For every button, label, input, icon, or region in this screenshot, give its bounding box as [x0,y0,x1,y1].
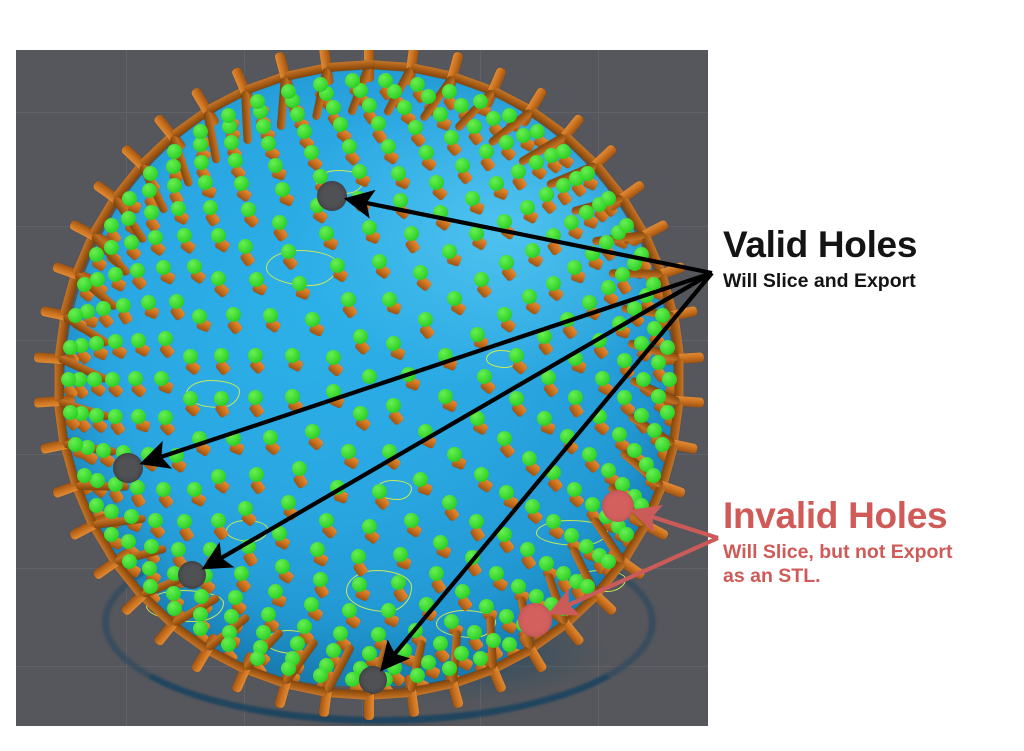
support-point [234,176,249,191]
support-point [330,258,345,273]
support-point [634,336,649,351]
support-point [194,155,209,170]
support-point [499,609,514,624]
support-point [171,542,186,557]
support-point [89,247,104,262]
support-point [142,561,157,576]
support-point [433,535,448,550]
support-point [546,514,561,529]
support-point [595,371,610,386]
support-point [529,155,544,170]
support-point [655,437,670,452]
support-point [144,539,159,554]
support-point [646,277,661,292]
support-point [143,579,158,594]
support-point [90,272,105,287]
support-point [473,94,488,109]
support-point [660,405,675,420]
support-point [263,308,278,323]
valid-holes-annotation: Valid Holes Will Slice and Export [723,226,917,293]
support-point [154,371,169,386]
support-point [166,586,181,601]
support-point [268,158,283,173]
valid-holes-subtitle: Will Slice and Export [723,270,917,293]
support-point [522,451,537,466]
support-point [224,135,239,150]
support-point [263,430,278,445]
support-point [479,144,494,159]
support-point [404,513,419,528]
support-point [183,391,198,406]
support-point [455,158,470,173]
support-point [525,243,540,258]
support-point [378,73,393,88]
support-point [546,228,561,243]
screenshot-root: Valid Holes Will Slice and Export Invali… [0,0,1024,751]
support-point [310,542,325,557]
support-point [529,589,544,604]
support-point [285,348,300,363]
support-point [469,514,484,529]
support-point [248,348,263,363]
support-point [511,164,526,179]
support-point [104,240,119,255]
support-point [167,144,182,159]
support-point [567,482,582,497]
support-point [193,621,208,636]
invalid-holes-subtitle-line1: Will Slice, but not Export [723,541,953,564]
support-point [525,499,540,514]
valid-hole-marker [113,453,143,483]
support-point [592,333,607,348]
invalid-holes-title: Invalid Holes [723,497,953,534]
support-point [326,100,341,115]
support-point [249,467,264,482]
support-point [499,135,514,150]
support-point [183,349,198,364]
support-point [192,309,207,324]
support-point [418,424,433,439]
support-point [89,408,104,423]
support-point [473,651,488,666]
support-point [617,353,632,368]
support-point [636,372,651,387]
support-point [447,447,462,462]
support-point [68,437,83,452]
support-point [169,448,184,463]
support-point [171,201,186,216]
support-point [105,372,120,387]
support-point [198,175,213,190]
support-point [268,584,283,599]
support-point [193,137,208,152]
support-point [372,254,387,269]
support-point [556,178,571,193]
support-point [108,267,123,282]
support-point [124,235,139,250]
support-point [68,308,83,323]
support-point [226,307,241,322]
support-point [104,504,119,519]
support-point [193,607,208,622]
support-point [418,312,433,327]
support-point [634,247,649,262]
support-point [499,255,514,270]
support-point [634,408,649,423]
support-point [601,554,616,569]
support-point [87,372,102,387]
support-point [438,348,453,363]
support-point [612,316,627,331]
support-point [249,272,264,287]
support-point [381,603,396,618]
support-point [187,259,202,274]
support-point [211,469,226,484]
support-point [130,263,145,278]
support-point [592,409,607,424]
support-point [228,590,243,605]
support-point [362,220,377,235]
valid-hole-marker [178,561,206,589]
invalid-hole-marker [602,490,634,522]
support-point [319,513,334,528]
support-point [444,614,459,629]
support-point [238,501,253,516]
support-point [444,130,459,145]
support-point [433,205,448,220]
support-point [169,294,184,309]
support-point [313,77,328,92]
support-point [166,159,181,174]
support-point [352,164,367,179]
support-point [433,636,448,651]
support-point [234,566,249,581]
support-point [362,369,377,384]
support-point [582,447,597,462]
support-point [108,409,123,424]
support-point [63,340,78,355]
invalid-holes-annotation: Invalid Holes Will Slice, but not Export… [723,497,953,588]
support-point [124,509,139,524]
support-point [281,244,296,259]
support-point [546,276,561,291]
support-point [601,191,616,206]
support-point [116,298,131,313]
support-point [556,601,571,616]
support-point [627,301,642,316]
support-point [353,406,368,421]
support-point [447,291,462,306]
support-point [580,166,595,181]
support-point [619,218,634,233]
support-point [77,468,92,483]
support-point [627,443,642,458]
support-point [470,411,485,426]
support-point [467,119,482,134]
support-point [556,566,571,581]
support-point [353,329,368,344]
support-point [362,519,377,534]
support-point [362,98,377,113]
support-point [509,391,524,406]
support-point [520,542,535,557]
support-point [465,550,480,565]
support-point [647,321,662,336]
support-point [556,144,571,159]
support-point [601,280,616,295]
3d-viewport[interactable] [16,50,708,726]
support-point [158,410,173,425]
support-point [655,308,670,323]
support-point [393,193,408,208]
support-point [419,597,434,612]
support-point [121,211,136,226]
support-point [148,513,163,528]
support-point [297,124,312,139]
valid-holes-title: Valid Holes [723,226,917,263]
support-point [226,431,241,446]
support-point [393,547,408,562]
support-point [467,625,482,640]
support-point [313,572,328,587]
support-point [63,405,78,420]
support-point [469,226,484,241]
model-scene [16,50,708,726]
support-point [248,390,263,405]
invalid-hole-marker [518,603,552,637]
support-point [502,108,517,123]
support-point [651,355,666,370]
support-point [221,637,236,652]
support-point [90,473,105,488]
support-point [214,391,229,406]
support-point [141,447,156,462]
support-point [371,627,386,642]
support-point [104,527,119,542]
support-point [272,215,287,230]
support-point [619,527,634,542]
support-point [651,389,666,404]
support-point [281,84,296,99]
support-point [281,495,296,510]
invalid-holes-subtitle-line2: as an STL. [723,565,953,588]
support-point [479,599,494,614]
support-point [121,534,136,549]
support-point [104,218,119,233]
support-point [371,116,386,131]
support-point [520,200,535,215]
support-point [537,329,552,344]
valid-hole-marker [359,666,387,694]
support-point [539,556,554,571]
support-point [351,191,366,206]
support-point [304,597,319,612]
support-point [382,292,397,307]
valid-hole-marker [317,181,347,211]
support-point [330,480,345,495]
support-point [564,528,579,543]
support-point [568,351,583,366]
support-point [404,226,419,241]
support-point [438,389,453,404]
support-point [297,619,312,634]
support-point [410,77,425,92]
support-point [585,497,600,512]
support-point [292,461,307,476]
support-point [516,128,531,143]
support-point [352,577,367,592]
support-point [470,327,485,342]
support-point [647,423,662,438]
support-point [408,623,423,638]
support-point [77,277,92,292]
support-point [580,579,595,594]
support-point [326,350,341,365]
support-point [221,108,236,123]
support-point [391,166,406,181]
support-point [612,427,627,442]
support-point [442,84,457,99]
support-point [272,526,287,541]
support-point [433,107,448,122]
support-point [601,463,616,478]
support-point [285,389,300,404]
support-point [511,579,526,594]
support-point [341,292,356,307]
support-point [167,601,182,616]
support-point [345,672,360,687]
support-point [144,205,159,220]
support-point [381,139,396,154]
support-point [362,646,377,661]
support-point [214,348,229,363]
support-point [567,260,582,275]
support-point [537,411,552,426]
